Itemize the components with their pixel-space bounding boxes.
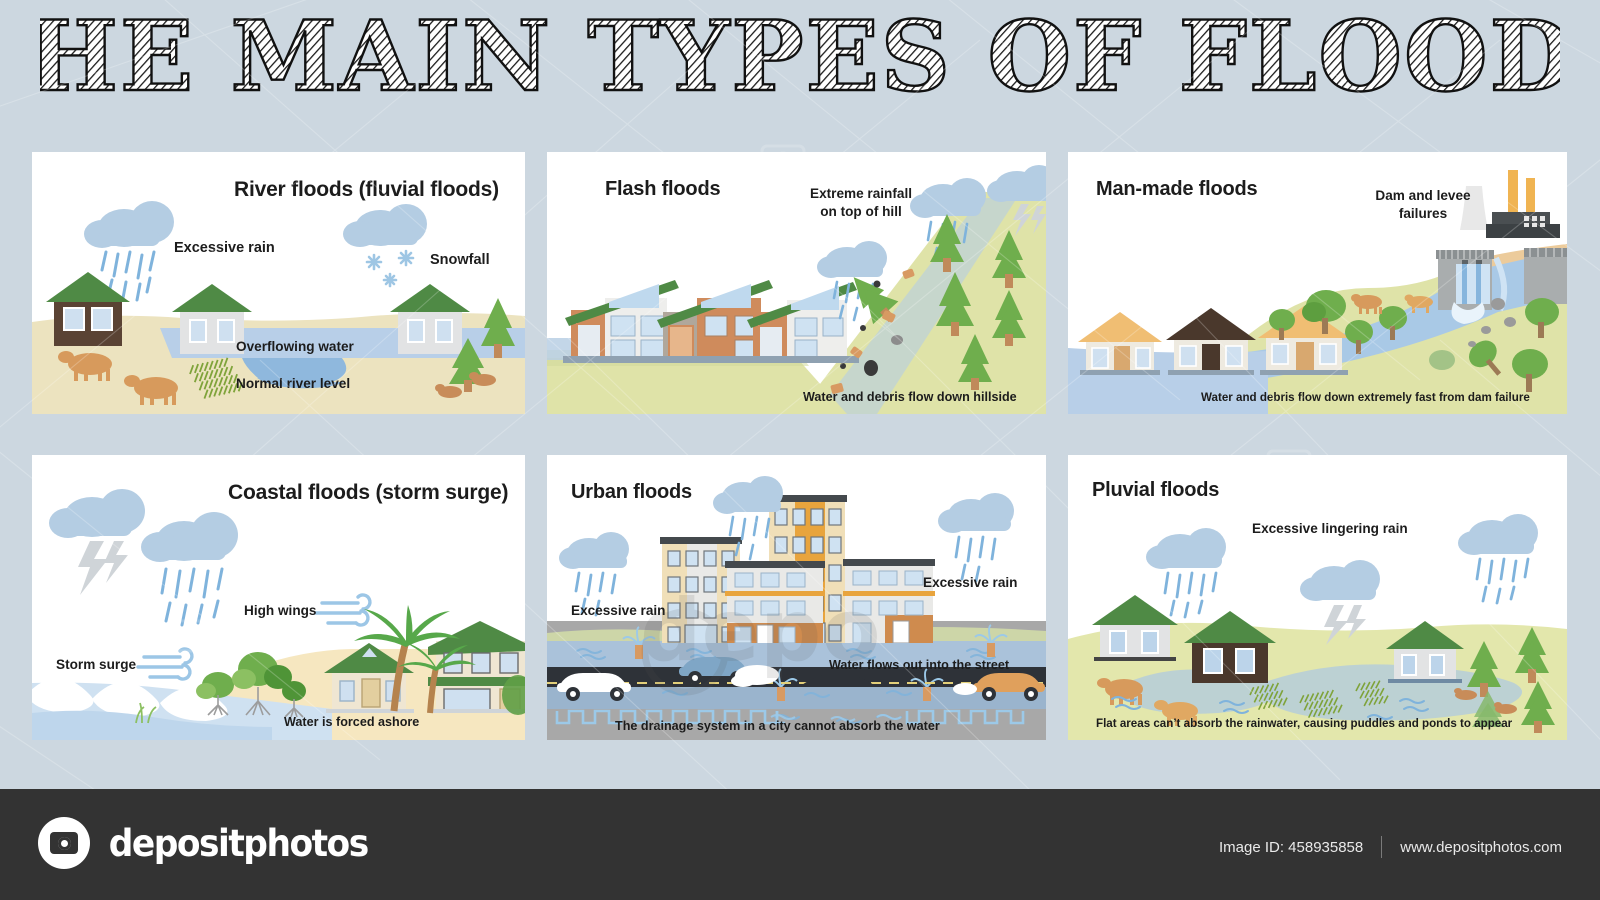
label-overflowing-water: Overflowing water	[236, 339, 354, 355]
label-extreme-rainfall-2: on top of hill	[795, 204, 927, 220]
house-dark-mid	[1184, 611, 1276, 683]
page-title-wrap: THE MAIN TYPES OF FLOODS	[0, 8, 1600, 120]
camera-icon	[38, 817, 90, 869]
brand-name: depositphotos	[109, 822, 368, 865]
panel-title: River floods (fluvial floods)	[234, 178, 499, 202]
panel-title: Man-made floods	[1096, 178, 1257, 201]
panel-flash-floods[interactable]: Flash floods Extreme rainfall on top of …	[547, 152, 1046, 414]
footer-bar: depositphotos Image ID: 458935858 www.de…	[0, 789, 1600, 900]
panel-coastal-floods[interactable]: Coastal floods (storm surge) High wings …	[32, 455, 525, 740]
house-dark-2	[1166, 308, 1256, 375]
cloud-lightning	[49, 489, 145, 595]
caption-drainage: The drainage system in a city cannot abs…	[615, 719, 940, 733]
depositphotos-logo[interactable]: depositphotos	[38, 817, 377, 869]
label-water-street: Water flows out into the street	[829, 658, 1009, 672]
panel-river-floods[interactable]: River floods (fluvial floods) Excessive …	[32, 152, 525, 414]
label-excessive-rain: Excessive rain	[174, 240, 275, 257]
wind-icon	[316, 595, 370, 625]
label-excessive-rain-left: Excessive rain	[571, 603, 665, 619]
image-id: Image ID: 458935858	[1219, 839, 1363, 856]
cloud-rain	[141, 512, 238, 625]
label-high-winds: High wings	[244, 603, 317, 619]
label-normal-river-level: Normal river level	[236, 376, 350, 392]
caption-forced-ashore: Water is forced ashore	[284, 715, 419, 729]
panel-urban-floods[interactable]: Urban floods Excessive rain Excessive ra…	[547, 455, 1046, 740]
label-snowfall: Snowfall	[430, 252, 490, 269]
lightning-icon	[78, 541, 108, 595]
house-flash-3	[745, 282, 859, 363]
cloud-rain-right	[1458, 514, 1538, 603]
house-tan-1	[1078, 312, 1162, 375]
house-gray-right	[390, 284, 470, 354]
cloud-rain-right	[938, 493, 1014, 581]
lightning-icon	[104, 541, 128, 583]
snowflake-icon	[367, 251, 413, 286]
caption-flat-areas: Flat areas can’t absorb the rainwater, c…	[1096, 717, 1512, 730]
page-title: THE MAIN TYPES OF FLOODS	[40, 12, 1560, 113]
panel-man-made-floods[interactable]: Man-made floods Dam and levee failures W…	[1068, 152, 1567, 414]
footer-meta: Image ID: 458935858 www.depositphotos.co…	[1219, 836, 1562, 858]
building-mid-front	[725, 561, 825, 645]
cloud-snow-right	[343, 204, 427, 286]
label-lingering-rain: Excessive lingering rain	[1252, 521, 1408, 537]
caption-hillside: Water and debris flow down hillside	[803, 390, 1017, 404]
panel-title: Pluvial floods	[1092, 479, 1219, 502]
label-storm-surge: Storm surge	[56, 657, 136, 673]
label-dam-failures-2: failures	[1360, 206, 1486, 222]
panel-grid: River floods (fluvial floods) Excessive …	[32, 152, 1568, 740]
panel-title: Coastal floods (storm surge)	[228, 481, 508, 505]
house-gray-left	[1092, 595, 1178, 661]
label-dam-failures-1: Dam and levee	[1360, 188, 1486, 204]
website-url[interactable]: www.depositphotos.com	[1400, 839, 1562, 856]
power-plant	[1460, 170, 1560, 238]
building-right	[843, 559, 935, 645]
house-dark	[46, 272, 130, 346]
meta-divider	[1381, 836, 1382, 858]
cloud-rain-left	[1146, 528, 1226, 617]
panel-title: Flash floods	[605, 178, 720, 201]
panel-title: Urban floods	[571, 481, 692, 504]
label-excessive-rain-right: Excessive rain	[923, 575, 1017, 591]
label-extreme-rainfall-1: Extreme rainfall	[795, 186, 927, 202]
wind-icon	[138, 649, 192, 679]
page-title-art: THE MAIN TYPES OF FLOODS	[40, 12, 1560, 116]
round-tree-submerged	[1429, 350, 1455, 370]
panel-pluvial-floods[interactable]: Pluvial floods Excessive lingering rain …	[1068, 455, 1567, 740]
caption-dam-failure: Water and debris flow down extremely fas…	[1201, 391, 1530, 404]
